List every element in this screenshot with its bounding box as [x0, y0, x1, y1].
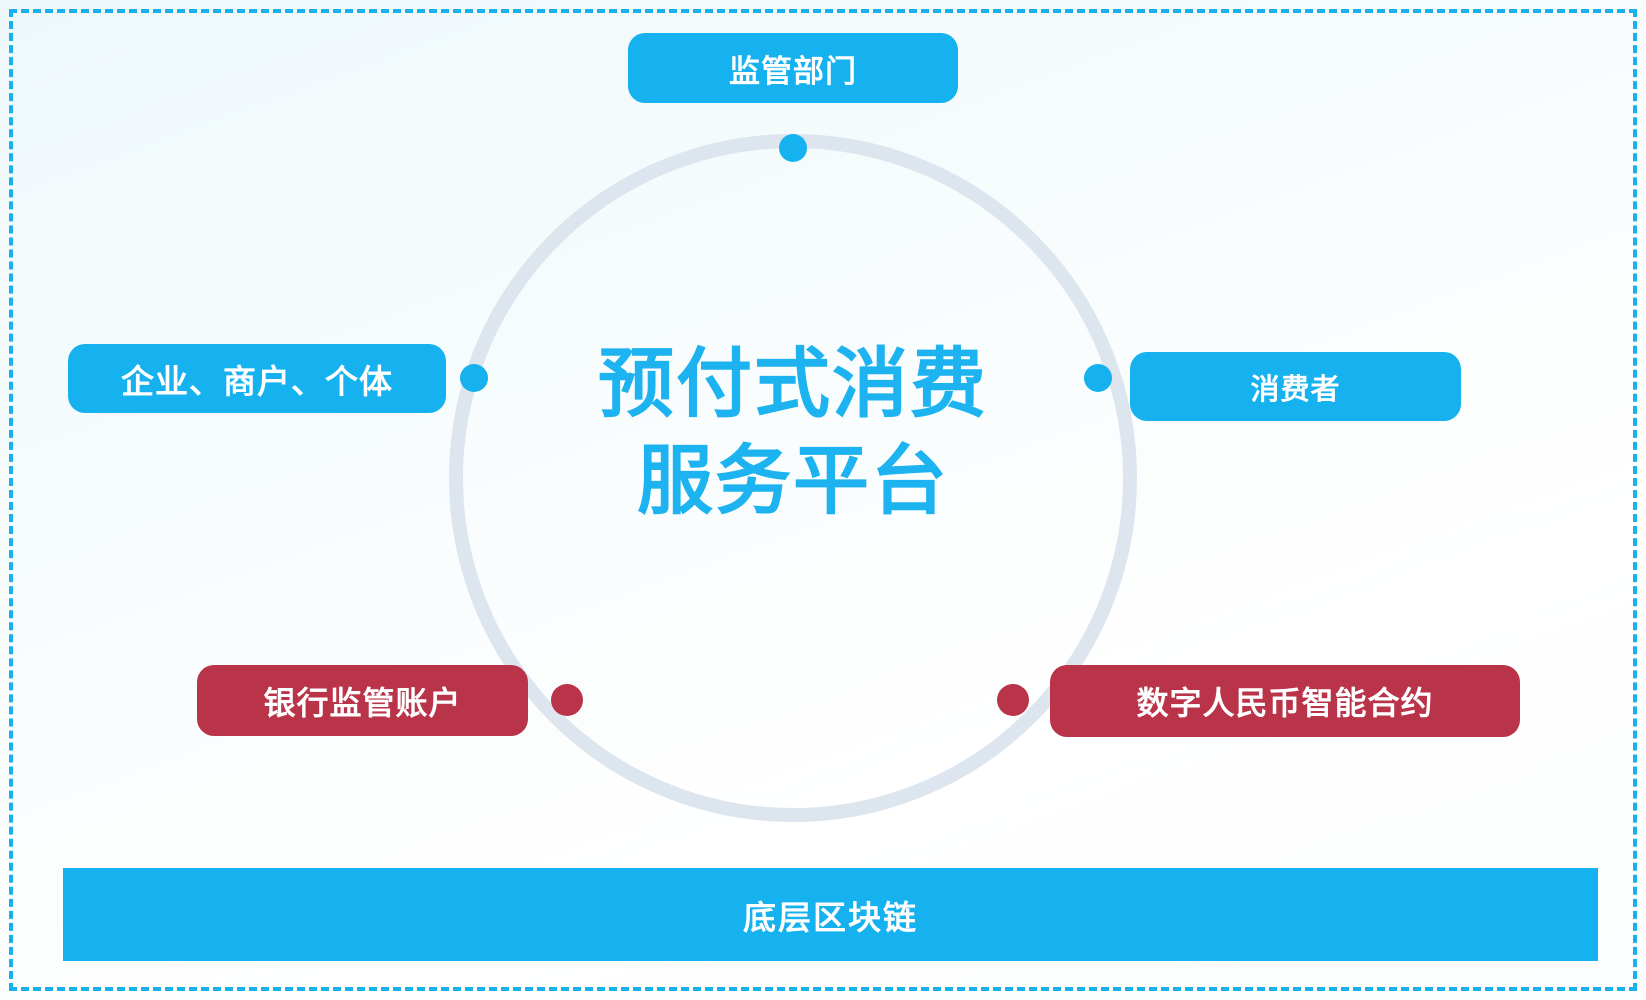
node-label-bank-account-text: 银行监管账户	[263, 678, 461, 724]
center-title-line-1: 预付式消费	[540, 336, 1046, 433]
node-dot-consumer	[1084, 364, 1112, 392]
foundation-layer-bar[interactable]: 底层区块链	[63, 868, 1598, 961]
node-label-consumer-text: 消费者	[1250, 366, 1340, 408]
node-dot-smart-contract	[997, 684, 1029, 716]
node-dot-enterprise	[460, 364, 488, 392]
node-label-regulator-text: 监管部门	[729, 46, 857, 91]
node-label-consumer[interactable]: 消费者	[1130, 352, 1461, 421]
node-label-bank-account[interactable]: 银行监管账户	[197, 665, 528, 736]
center-title-line-2: 服务平台	[540, 433, 1046, 530]
node-label-enterprise[interactable]: 企业、商户、个体	[68, 344, 446, 413]
node-label-regulator[interactable]: 监管部门	[628, 33, 958, 103]
foundation-layer-label: 底层区块链	[743, 891, 918, 939]
node-label-smart-contract-text: 数字人民币智能合约	[1136, 678, 1433, 724]
center-title: 预付式消费 服务平台	[540, 336, 1046, 531]
diagram-canvas: 预付式消费 服务平台 监管部门 企业、商户、个体 消费者 银行监管账户 数字人民…	[0, 0, 1646, 1000]
node-label-enterprise-text: 企业、商户、个体	[121, 355, 393, 403]
node-dot-bank-account	[551, 684, 583, 716]
node-dot-regulator	[779, 134, 807, 162]
node-label-smart-contract[interactable]: 数字人民币智能合约	[1050, 665, 1520, 737]
